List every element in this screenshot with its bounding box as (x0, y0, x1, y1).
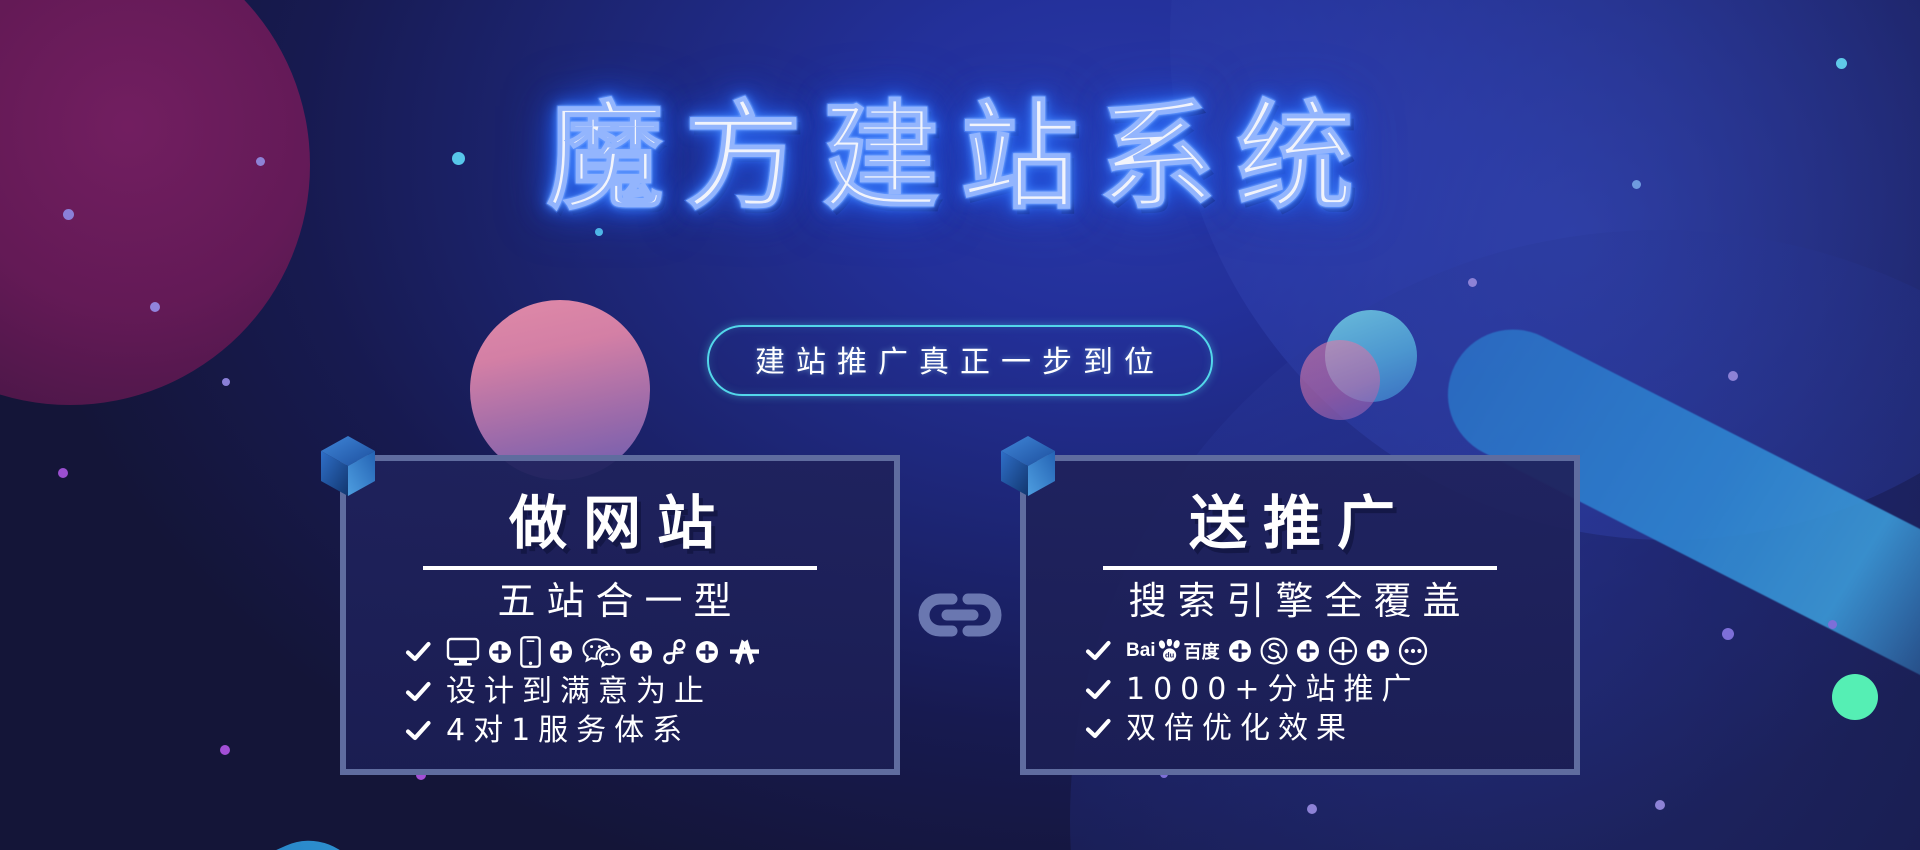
star-dot (150, 302, 160, 312)
so360-plus-icon (1328, 636, 1358, 666)
chain-link-icon (914, 587, 1006, 643)
feature-row: 4对1服务体系 (404, 716, 690, 746)
baidu-paw-icon: du (1157, 639, 1183, 663)
feature-list: 设计到满意为止 4对1服务体系 (380, 636, 860, 746)
plus-circle-icon (1366, 639, 1390, 663)
feature-label: 4对1服务体系 (446, 716, 690, 746)
feature-label: 双倍优化效果 (1126, 714, 1354, 744)
feature-row: 双倍优化效果 (1084, 714, 1354, 744)
app-store-icon (727, 636, 763, 668)
subtitle-pill: 建站推广真正一步到位 (707, 325, 1213, 396)
card-subtitle: 搜索引擎全覆盖 (1060, 580, 1540, 624)
plus-circle-icon (629, 640, 653, 664)
check-icon (404, 717, 432, 745)
star-dot (1307, 804, 1317, 814)
desktop-monitor-icon (446, 637, 480, 667)
check-icon (1084, 637, 1112, 665)
baidu-paw-label: du (1165, 650, 1175, 659)
star-dot (1468, 278, 1477, 287)
hero-title-area: 魔方建站系统 (0, 88, 1920, 227)
feature-label: 设计到满意为止 (446, 677, 712, 707)
plus-circle-icon (488, 640, 512, 664)
subtitle-area: 建站推广真正一步到位 (0, 325, 1920, 396)
card-title-underline (423, 566, 817, 570)
star-dot (595, 228, 603, 236)
check-icon (404, 678, 432, 706)
feature-cards-row: 做网站 五站合一型 (0, 455, 1920, 775)
sogou-s-icon (1260, 637, 1288, 665)
mini-program-icon (661, 636, 687, 668)
promo-banner: 魔方建站系统 建站推广真正一步到位 (0, 0, 1920, 850)
card-title: 送推广 (1060, 493, 1540, 554)
search-engine-icon-row: Bai du 百度 (1126, 636, 1428, 666)
baidu-chinese: 百度 (1184, 638, 1220, 664)
card-subtitle: 五站合一型 (380, 580, 860, 624)
card-connector (900, 455, 1020, 775)
feature-label: 1000+分站推广 (1126, 675, 1419, 705)
blue-comet-left-decoration (0, 823, 383, 850)
baidu-latin: Bai (1126, 641, 1156, 660)
star-dot (1836, 58, 1847, 69)
mobile-phone-icon (520, 636, 541, 668)
star-dot (1655, 800, 1665, 810)
check-icon (1084, 715, 1112, 743)
plus-circle-icon (549, 640, 573, 664)
platform-icon-row (446, 636, 763, 668)
feature-row: 1000+分站推广 (1084, 675, 1419, 705)
plus-circle-icon (1228, 639, 1252, 663)
feature-row-platforms (404, 636, 763, 668)
plus-circle-icon (1296, 639, 1320, 663)
wechat-icon (581, 636, 621, 668)
baidu-logo-icon: Bai du 百度 (1126, 638, 1220, 664)
feature-row: 设计到满意为止 (404, 677, 712, 707)
card-title-underline (1103, 566, 1497, 570)
feature-list: Bai du 百度 (1060, 636, 1540, 744)
check-icon (1084, 676, 1112, 704)
feature-row-search-engines: Bai du 百度 (1084, 636, 1428, 666)
card-title: 做网站 (380, 493, 860, 554)
main-title: 魔方建站系统 (546, 88, 1374, 227)
card-free-promotion[interactable]: 送推广 搜索引擎全覆盖 Bai (1020, 455, 1580, 775)
card-make-website[interactable]: 做网站 五站合一型 (340, 455, 900, 775)
check-icon (404, 638, 432, 666)
plus-circle-icon (695, 640, 719, 664)
more-ellipsis-icon (1398, 636, 1428, 666)
